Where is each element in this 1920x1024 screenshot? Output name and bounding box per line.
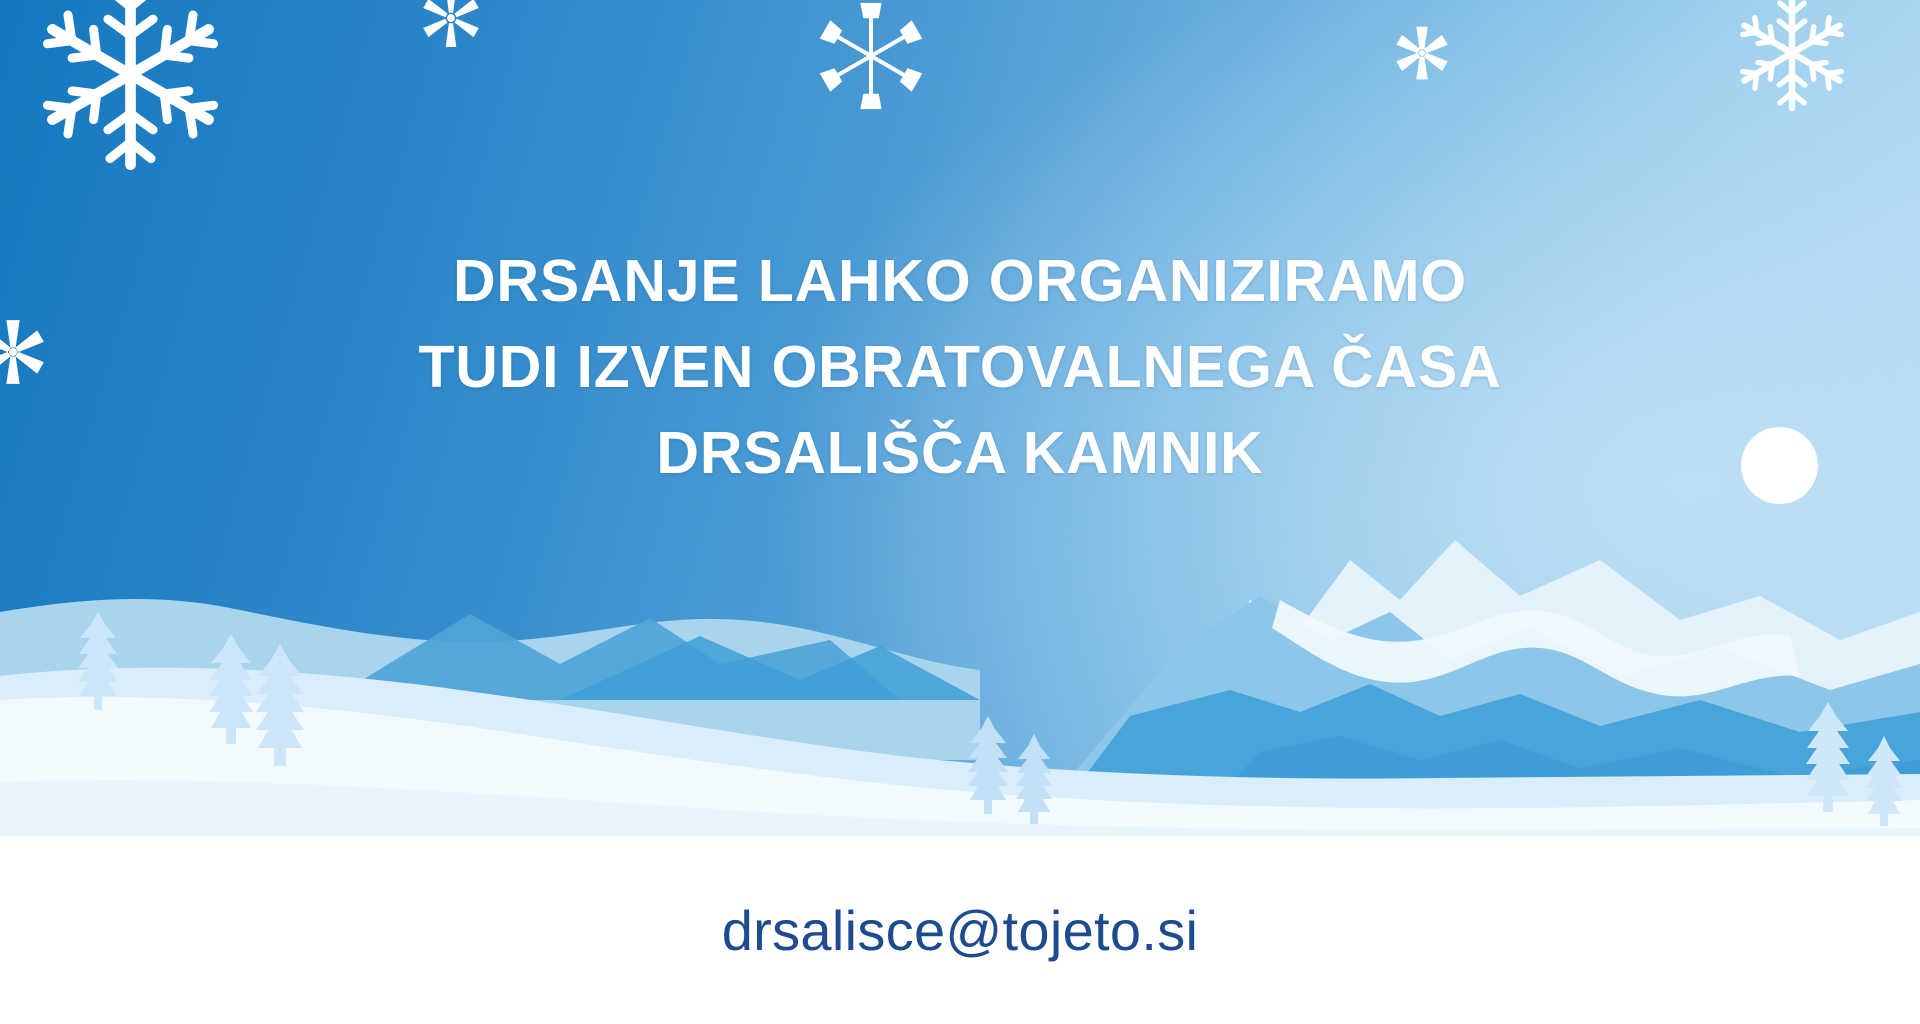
pine-tree [1016, 734, 1052, 824]
headline-text-block: DRSANJE LAHKO ORGANIZIRAMO TUDI IZVEN OB… [0, 238, 1920, 496]
contact-email[interactable]: drsalisce@tojeto.si [722, 898, 1199, 963]
winter-promo-banner: DRSANJE LAHKO ORGANIZIRAMO TUDI IZVEN OB… [0, 0, 1920, 1024]
footer-contact-band: drsalisce@tojeto.si [0, 836, 1920, 1024]
headline-line-1: DRSANJE LAHKO ORGANIZIRAMO [0, 238, 1920, 324]
headline-line-3: DRSALIŠČA KAMNIK [0, 410, 1920, 496]
headline-line-2: TUDI IZVEN OBRATOVALNEGA ČASA [0, 324, 1920, 410]
